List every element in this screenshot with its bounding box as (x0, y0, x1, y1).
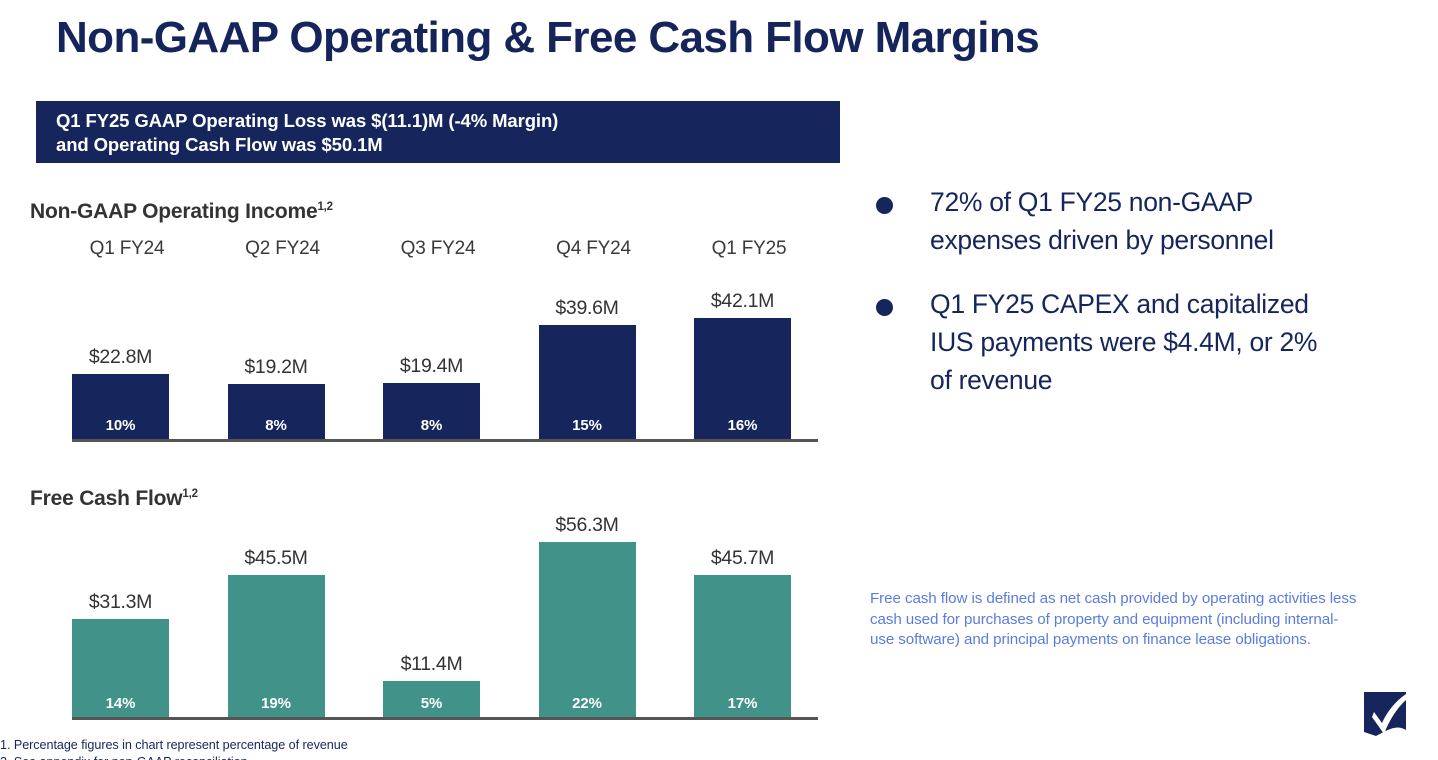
bar[interactable]: 10% (72, 374, 169, 439)
page-title: Non-GAAP Operating & Free Cash Flow Marg… (56, 12, 1306, 64)
bar-value-label: $19.4M (376, 355, 487, 378)
free-cash-flow-footnote-marker: 1,2 (182, 488, 197, 500)
bar[interactable]: 15% (539, 325, 636, 439)
operating-income-chart-title-text: Non-GAAP Operating Income (30, 200, 317, 223)
callout-line-2: and Operating Cash Flow was $50.1M (56, 133, 840, 157)
bar-value-label: $42.1M (687, 290, 798, 313)
operating-income-plot-area: 10%$22.8M8%$19.2M8%$19.4M15%$39.6M16%$42… (72, 268, 818, 442)
category-label: Q2 FY24 (228, 238, 338, 260)
category-label: Q4 FY24 (539, 238, 649, 260)
category-label: Q1 FY25 (694, 238, 804, 260)
free-cash-flow-plot-area: 14%$31.3M19%$45.5M5%$11.4M22%$56.3M17%$4… (72, 510, 818, 720)
highlight-item: Q1 FY25 CAPEX and capitalized IUS paymen… (868, 286, 1338, 400)
highlight-item: 72% of Q1 FY25 non-GAAP expenses driven … (868, 184, 1338, 260)
callout-band: Q1 FY25 GAAP Operating Loss was $(11.1)M… (36, 101, 840, 163)
bar-percent-label: 19% (228, 695, 325, 712)
bar-value-label: $56.3M (532, 514, 643, 537)
bar-value-label: $45.5M (221, 547, 332, 570)
bar-value-label: $11.4M (376, 653, 487, 676)
free-cash-flow-axis-line (72, 717, 818, 720)
operating-income-chart-title: Non-GAAP Operating Income1,2 (30, 200, 333, 224)
free-cash-flow-chart-title-text: Free Cash Flow (30, 487, 182, 510)
operating-income-chart: Q1 FY24Q2 FY24Q3 FY24Q4 FY24Q1 FY25 10%$… (72, 238, 818, 442)
bar-value-label: $19.2M (221, 356, 332, 379)
paylocity-checkmark-logo-svg (1362, 690, 1412, 742)
bar-percent-label: 10% (72, 417, 169, 434)
bar[interactable]: 8% (383, 383, 480, 439)
bar[interactable]: 17% (694, 575, 791, 717)
bar[interactable]: 16% (694, 318, 791, 439)
bar[interactable]: 14% (72, 619, 169, 717)
highlights-list: 72% of Q1 FY25 non-GAAP expenses driven … (868, 184, 1338, 425)
bar-percent-label: 17% (694, 695, 791, 712)
bar-percent-label: 22% (539, 695, 636, 712)
free-cash-flow-definition-note: Free cash flow is defined as net cash pr… (870, 589, 1362, 651)
footnote-line: 1. Percentage figures in chart represent… (0, 737, 700, 754)
bar-percent-label: 16% (694, 417, 791, 434)
bar-percent-label: 8% (228, 417, 325, 434)
operating-income-category-axis: Q1 FY24Q2 FY24Q3 FY24Q4 FY24Q1 FY25 (72, 238, 818, 264)
bar[interactable]: 8% (228, 384, 325, 439)
paylocity-checkmark-logo (1362, 690, 1412, 742)
slide-root: Non-GAAP Operating & Free Cash Flow Marg… (0, 0, 1438, 760)
operating-income-axis-line (72, 439, 818, 442)
bar[interactable]: 22% (539, 542, 636, 717)
bullet-dot-icon (876, 197, 893, 214)
bar-percent-label: 5% (383, 695, 480, 712)
bar-percent-label: 15% (539, 417, 636, 434)
bar-value-label: $22.8M (65, 346, 176, 369)
bar-value-label: $31.3M (65, 591, 176, 614)
callout-line-1: Q1 FY25 GAAP Operating Loss was $(11.1)M… (56, 109, 840, 133)
bar[interactable]: 19% (228, 575, 325, 717)
bar-percent-label: 14% (72, 695, 169, 712)
bar[interactable]: 5% (383, 681, 480, 717)
category-label: Q1 FY24 (72, 238, 182, 260)
bullet-dot-icon (876, 299, 893, 316)
footnote-line: 2. See appendix for non-GAAP reconciliat… (0, 754, 700, 760)
footnotes: 1. Percentage figures in chart represent… (0, 737, 700, 760)
bar-percent-label: 8% (383, 417, 480, 434)
highlight-item-text: 72% of Q1 FY25 non-GAAP expenses driven … (930, 187, 1274, 255)
operating-income-footnote-marker: 1,2 (317, 201, 332, 213)
bar-value-label: $45.7M (687, 547, 798, 570)
bar-value-label: $39.6M (532, 297, 643, 320)
free-cash-flow-chart: 14%$31.3M19%$45.5M5%$11.4M22%$56.3M17%$4… (72, 508, 818, 720)
highlight-item-text: Q1 FY25 CAPEX and capitalized IUS paymen… (930, 289, 1317, 395)
category-label: Q3 FY24 (383, 238, 493, 260)
